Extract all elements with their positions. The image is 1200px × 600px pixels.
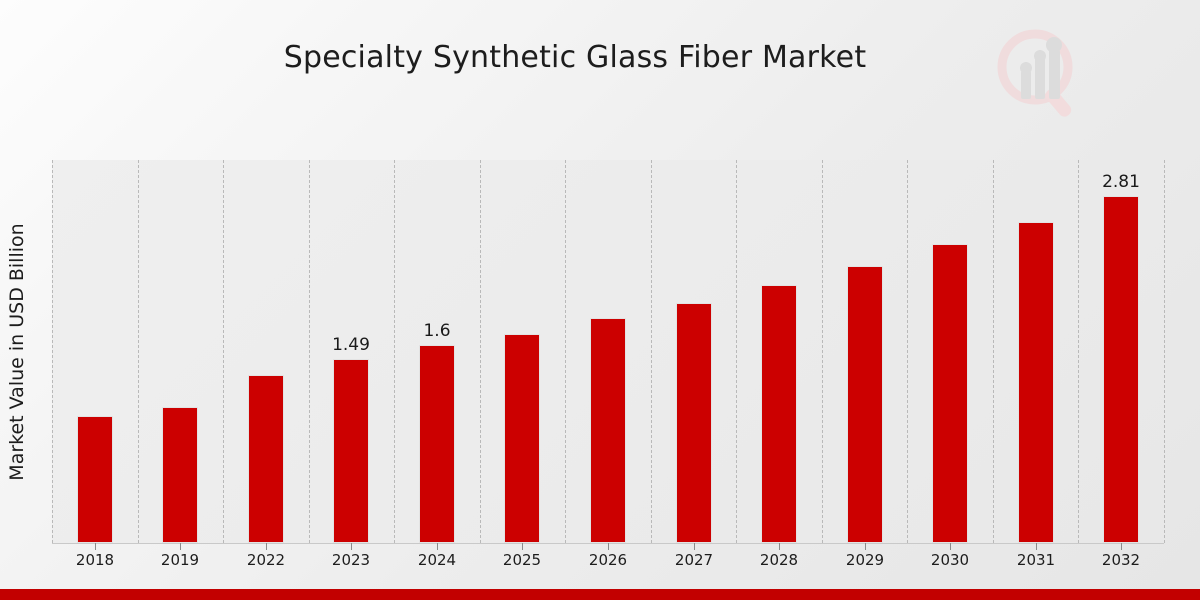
bar-value-label-2032: 2.81 bbox=[1081, 172, 1161, 192]
magnifier-bar-chart-logo-icon bbox=[992, 25, 1088, 123]
x-tick-2031 bbox=[1036, 543, 1037, 550]
page-title: Specialty Synthetic Glass Fiber Market bbox=[0, 40, 1150, 75]
gridline bbox=[309, 160, 310, 543]
x-tick-label-2028: 2028 bbox=[739, 551, 819, 569]
x-tick-2027 bbox=[694, 543, 695, 550]
bar-2030[interactable] bbox=[932, 244, 968, 543]
bar-2026[interactable] bbox=[590, 318, 626, 543]
bar-2023[interactable] bbox=[333, 359, 369, 543]
gridline bbox=[565, 160, 566, 543]
x-tick-2019 bbox=[180, 543, 181, 550]
y-axis-title: Market Value in USD Billion bbox=[0, 160, 34, 543]
gridline bbox=[736, 160, 737, 543]
x-tick-label-2027: 2027 bbox=[654, 551, 734, 569]
gridline bbox=[822, 160, 823, 543]
gridline bbox=[138, 160, 139, 543]
x-tick-2029 bbox=[865, 543, 866, 550]
bar-2019[interactable] bbox=[162, 407, 198, 543]
gridline bbox=[223, 160, 224, 543]
x-tick-2023 bbox=[351, 543, 352, 550]
x-tick-label-2032: 2032 bbox=[1081, 551, 1161, 569]
gridline bbox=[1078, 160, 1079, 543]
bar-2024[interactable] bbox=[419, 345, 455, 543]
x-tick-2024 bbox=[437, 543, 438, 550]
x-tick-label-2031: 2031 bbox=[996, 551, 1076, 569]
x-tick-2022 bbox=[266, 543, 267, 550]
bar-2032[interactable] bbox=[1103, 196, 1139, 543]
x-tick-label-2026: 2026 bbox=[568, 551, 648, 569]
x-tick-2032 bbox=[1121, 543, 1122, 550]
gridline bbox=[651, 160, 652, 543]
x-tick-label-2018: 2018 bbox=[55, 551, 135, 569]
x-tick-2028 bbox=[779, 543, 780, 550]
x-tick-label-2029: 2029 bbox=[825, 551, 905, 569]
infographic-canvas: Specialty Synthetic Glass Fiber Market M… bbox=[0, 0, 1200, 600]
x-tick-label-2022: 2022 bbox=[226, 551, 306, 569]
x-tick-label-2023: 2023 bbox=[311, 551, 391, 569]
gridline bbox=[993, 160, 994, 543]
bar-2031[interactable] bbox=[1018, 222, 1054, 543]
bar-2027[interactable] bbox=[676, 303, 712, 543]
gridline bbox=[1164, 160, 1165, 543]
x-tick-2026 bbox=[608, 543, 609, 550]
y-axis-title-text: Market Value in USD Billion bbox=[6, 223, 28, 480]
x-tick-label-2025: 2025 bbox=[482, 551, 562, 569]
gridline bbox=[480, 160, 481, 543]
gridline bbox=[394, 160, 395, 543]
header: Specialty Synthetic Glass Fiber Market bbox=[0, 0, 1200, 150]
x-tick-label-2030: 2030 bbox=[910, 551, 990, 569]
x-tick-label-2019: 2019 bbox=[140, 551, 220, 569]
bar-value-label-2023: 1.49 bbox=[311, 335, 391, 355]
x-tick-label-2024: 2024 bbox=[397, 551, 477, 569]
bar-2022[interactable] bbox=[248, 375, 284, 543]
bar-2025[interactable] bbox=[504, 334, 540, 543]
footer-accent-band bbox=[0, 589, 1200, 600]
bar-value-label-2024: 1.6 bbox=[397, 321, 477, 341]
bar-2029[interactable] bbox=[847, 266, 883, 543]
x-tick-2018 bbox=[95, 543, 96, 550]
gridline bbox=[52, 160, 53, 543]
x-tick-2025 bbox=[522, 543, 523, 550]
gridline bbox=[907, 160, 908, 543]
x-tick-2030 bbox=[950, 543, 951, 550]
bar-2018[interactable] bbox=[77, 416, 113, 543]
bar-2028[interactable] bbox=[761, 285, 797, 543]
